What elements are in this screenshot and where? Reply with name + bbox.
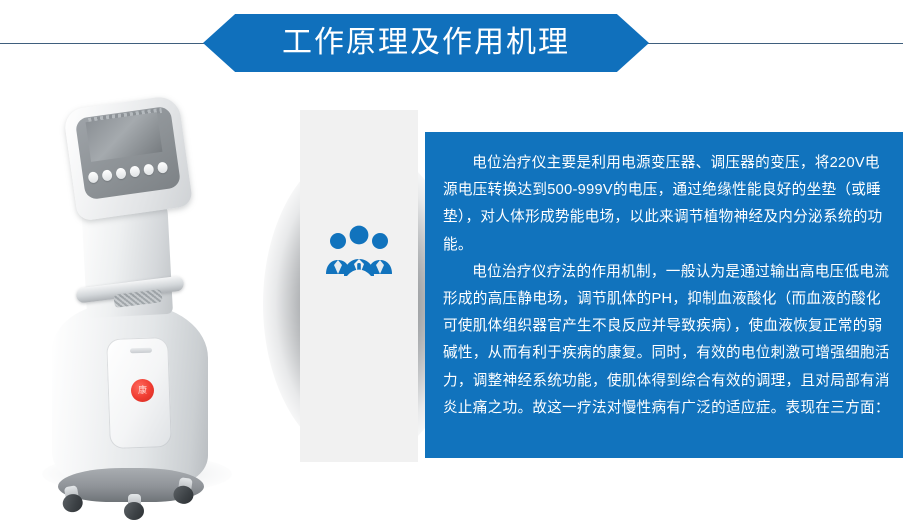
device-caster-wheel <box>60 484 86 513</box>
device-caster-wheel <box>172 477 197 506</box>
content-paragraph-2: 电位治疗仪疗法的作用机制，一般认为是通过输出高电压低电流形成的高压静电场，调节肌… <box>443 259 894 422</box>
device-button <box>88 171 99 183</box>
content-paragraph-1: 电位治疗仪主要是利用电源变压器、调压器的变压，将220V电源电压转换达到500-… <box>443 150 894 259</box>
header-rule-left <box>0 43 210 44</box>
device-button <box>115 167 126 179</box>
device-button <box>129 165 140 177</box>
page-header: 工作原理及作用机理 <box>0 0 910 86</box>
people-group-icon <box>325 224 393 278</box>
page-title: 工作原理及作用机理 <box>282 28 570 58</box>
device-button <box>157 161 168 173</box>
content-body: 电位治疗仪主要是利用电源变压器、调压器的变压，将220V电源电压转换达到500-… <box>443 150 894 422</box>
device-button <box>143 163 154 175</box>
content-panel: 电位治疗仪主要是利用电源变压器、调压器的变压，将220V电源电压转换达到500-… <box>425 132 910 458</box>
caster-wheel <box>124 502 144 520</box>
right-gutter <box>903 0 910 498</box>
header-banner-hexagon: 工作原理及作用机理 <box>203 14 649 72</box>
device-button <box>101 169 112 181</box>
device-logo-badge: 康 <box>131 379 154 402</box>
icon-panel <box>300 110 418 462</box>
header-rule-right <box>640 43 910 44</box>
device-panel-slot <box>130 348 152 354</box>
device-photo: 康 <box>18 86 268 498</box>
